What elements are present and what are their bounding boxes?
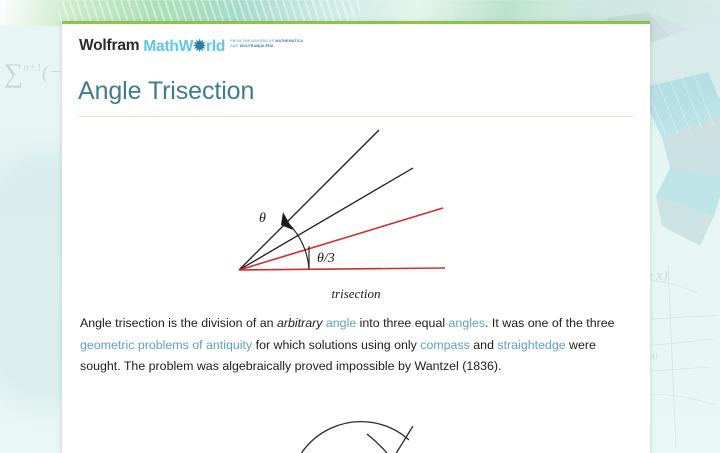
title-divider <box>78 116 634 117</box>
logo-world-pre: W <box>179 38 193 55</box>
article-body-paragraph: Angle trisection is the division of an a… <box>80 313 636 378</box>
logo-orb-icon: ✹ <box>193 37 206 56</box>
tagline-line-2: AND <box>230 44 238 48</box>
svg-text:n): n) <box>650 351 658 361</box>
site-logo[interactable]: Wolfram MathW✹rld FROM THE MAKERS OF MAT… <box>79 37 303 56</box>
angle-arrowhead <box>281 212 293 230</box>
article-card: Wolfram MathW✹rld FROM THE MAKERS OF MAT… <box>62 21 650 453</box>
label-theta-over-three: θ/3 <box>317 251 335 266</box>
formula-sup: n+1 <box>24 63 42 74</box>
figure-caption: trisection <box>62 286 650 302</box>
body-text-run: Angle trisection is the division of an <box>80 316 277 330</box>
body-link[interactable]: straightedge <box>497 338 565 352</box>
figure-construction <box>62 406 650 453</box>
figure-trisection: θ θ/3 trisection <box>62 120 650 310</box>
body-text-run: . It was one of the three <box>485 316 615 330</box>
ray-base <box>239 268 445 270</box>
body-text-run: and <box>470 338 498 352</box>
logo-wolfram-text: Wolfram <box>79 37 139 55</box>
construction-diagram <box>231 406 481 453</box>
trisection-diagram: θ θ/3 <box>231 120 481 285</box>
body-link[interactable]: compass <box>420 338 470 352</box>
tagline-line-1: FROM THE MAKERS OF <box>230 39 274 43</box>
body-text-run: for which solutions using only <box>252 338 420 352</box>
body-text-run: into three equal <box>356 316 448 330</box>
logo-mathworld-text: MathW✹rld <box>143 37 225 56</box>
logo-world-post: rld <box>206 38 225 55</box>
page-title: Angle Trisection <box>78 77 254 106</box>
label-theta: θ <box>259 211 266 226</box>
construction-arc <box>289 422 409 453</box>
logo-tagline: FROM THE MAKERS OF MATHEMATICA AND WOLFR… <box>230 39 303 49</box>
body-emphasis: arbitrary <box>277 316 322 330</box>
body-link[interactable]: angle <box>326 316 356 330</box>
tagline-mathematica: MATHEMATICA <box>275 39 303 43</box>
body-link[interactable]: geometric problems of antiquity <box>80 338 252 352</box>
body-link[interactable]: angles <box>449 316 486 330</box>
construction-line-a <box>371 426 413 453</box>
tagline-wolframalpha: WOLFRAM|ALPHA <box>240 44 274 48</box>
logo-math-part: Math <box>143 38 178 55</box>
